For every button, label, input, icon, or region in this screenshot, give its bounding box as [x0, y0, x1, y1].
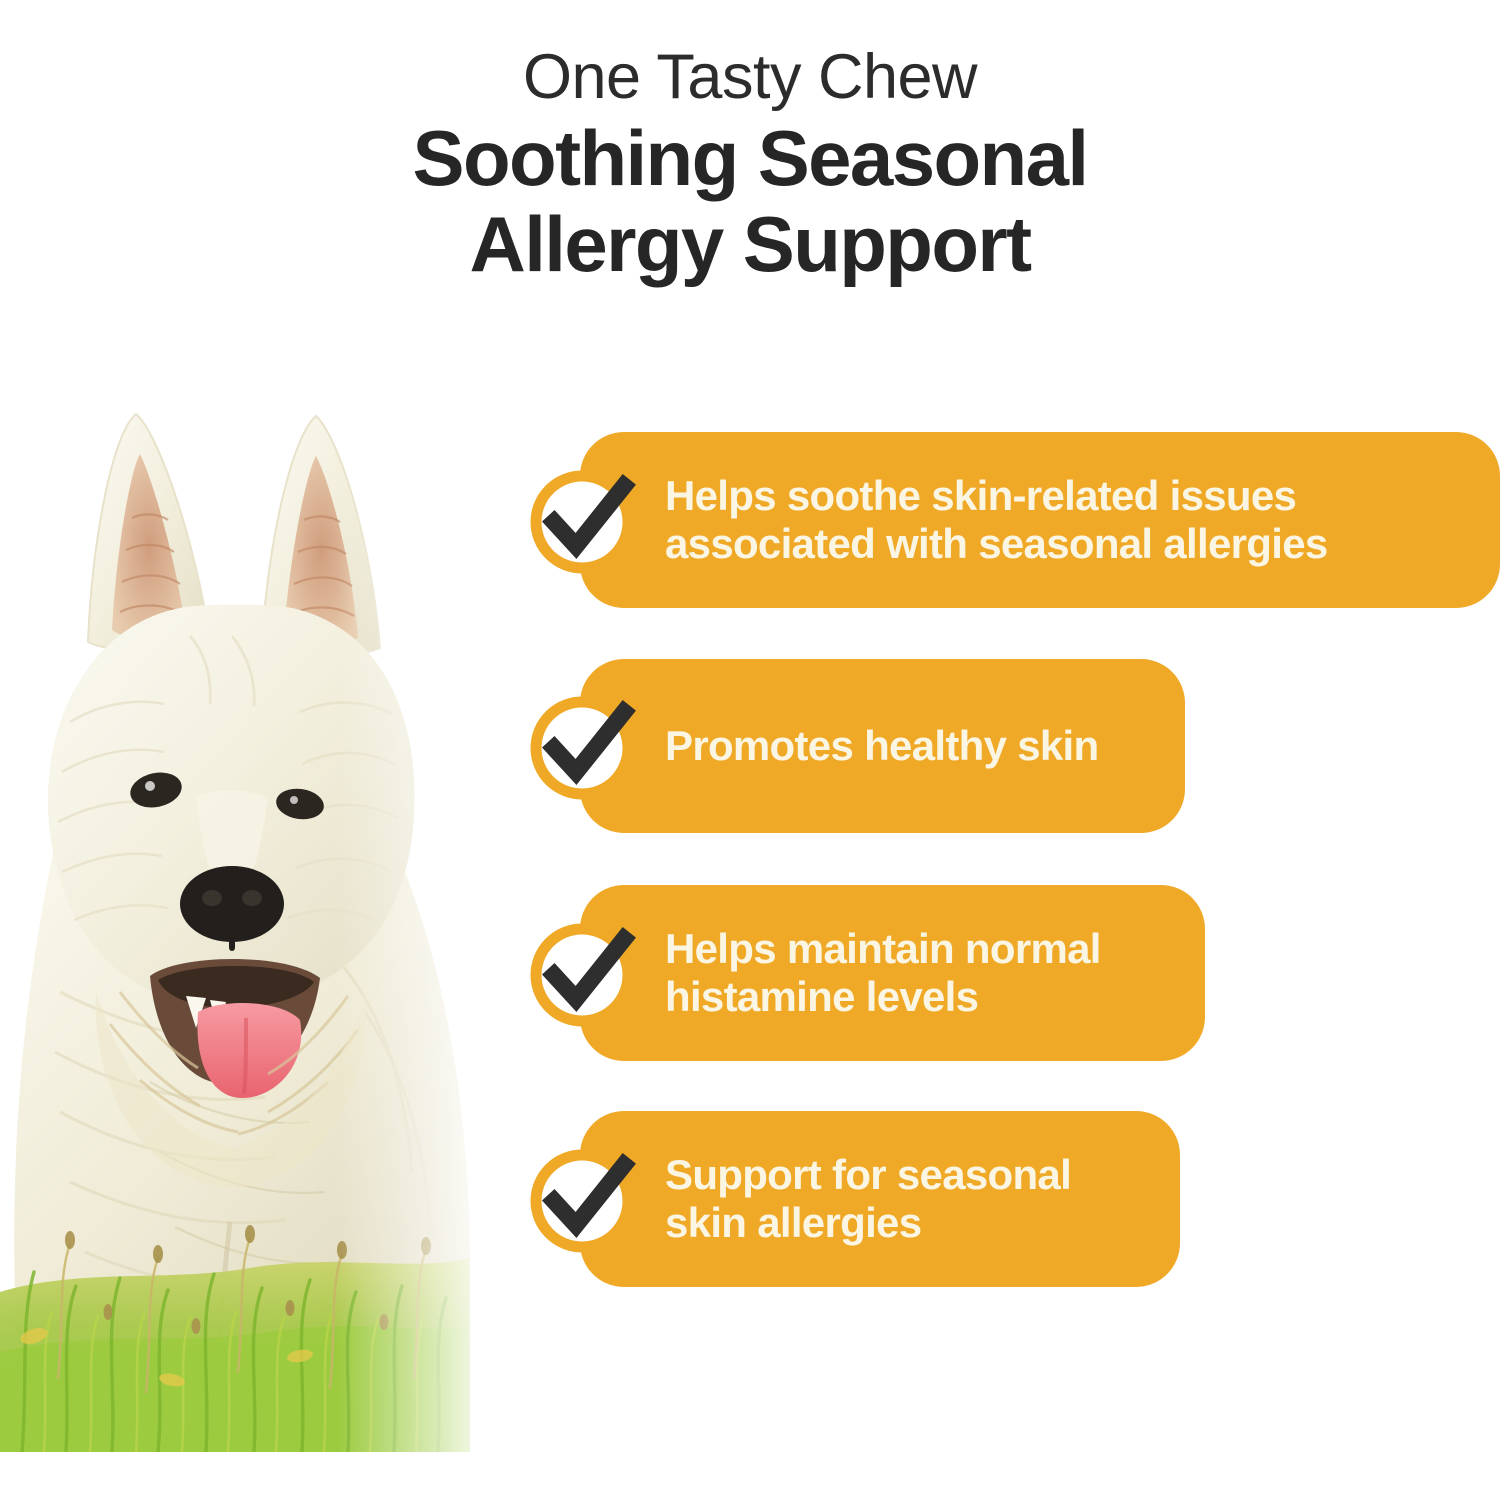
header-block: One Tasty Chew Soothing Seasonal Allergy… [0, 0, 1500, 288]
feature-text: Helps soothe skin-related issues associa… [665, 472, 1485, 568]
check-circle-icon [524, 1141, 640, 1257]
check-circle-icon [524, 688, 640, 804]
eyebrow-text: One Tasty Chew [0, 44, 1500, 110]
check-circle-icon [524, 462, 640, 578]
page-title: Soothing Seasonal Allergy Support [0, 116, 1500, 288]
feature-text: Helps maintain normal histamine levels [665, 925, 1485, 1021]
feature-text: Support for seasonal skin allergies [665, 1151, 1485, 1247]
headline-line-2: Allergy Support [0, 202, 1500, 288]
headline-line-1: Soothing Seasonal [0, 116, 1500, 202]
check-circle-icon [524, 915, 640, 1031]
feature-text: Promotes healthy skin [665, 722, 1485, 770]
